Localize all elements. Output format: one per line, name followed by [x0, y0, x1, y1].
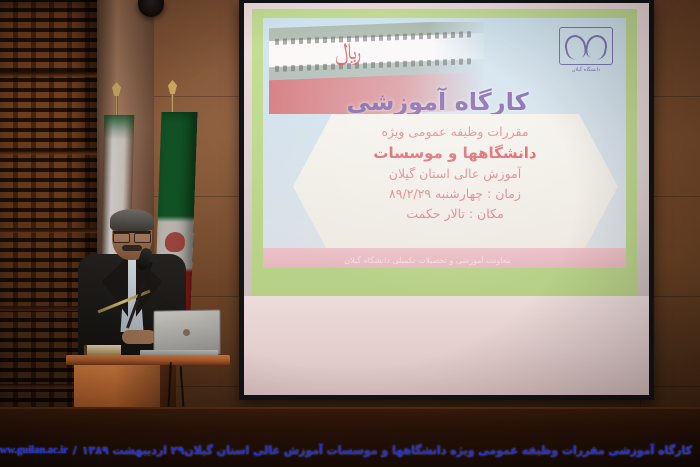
eyeglasses-icon	[113, 231, 151, 241]
slide-body-line: مکان : تالار حکمت	[309, 204, 601, 224]
presenter-laptop	[153, 309, 220, 354]
slide-body-lines: مقررات وظیفه عمومی ویژه دانشگاهها و موسس…	[309, 122, 601, 224]
presentation-slide: ﷼ دانشگاه گیلان کارگاه آموزشی مقررات وظی…	[252, 9, 637, 296]
projection-screen: ﷼ دانشگاه گیلان کارگاه آموزشی مقررات وظی…	[239, 0, 654, 400]
caption-date: ۲۹ اردیبهشت ۱۳۸۹	[82, 444, 184, 457]
slide-body-line: مقررات وظیفه عمومی ویژه	[309, 122, 601, 142]
slide-body-line: آموزش عالی استان گیلان	[309, 164, 601, 184]
caption-title: کارگاه آموزشی مقررات وظیفه عمومی ویژه دا…	[184, 444, 692, 457]
screen-surface: ﷼ دانشگاه گیلان کارگاه آموزشی مقررات وظی…	[244, 3, 649, 395]
slide-inner-panel: ﷼ دانشگاه گیلان کارگاه آموزشی مقررات وظی…	[263, 18, 626, 268]
photograph: ﷼ دانشگاه گیلان کارگاه آموزشی مقررات وظی…	[0, 0, 700, 467]
iran-emblem-icon: ﷼	[331, 39, 366, 62]
presenter-hands	[122, 330, 156, 344]
slide-body-line: زمان : چهارشنبه ۸۹/۲/۲۹	[309, 184, 601, 204]
caption-bar: کارگاه آموزشی مقررات وظیفه عمومی ویژه دا…	[0, 433, 700, 467]
slide-title: کارگاه آموزشی	[263, 88, 612, 116]
caption-website-url[interactable]: www.guilan.ac.ir	[0, 444, 68, 456]
presenter-mustache	[122, 245, 142, 251]
logo-caption: دانشگاه گیلان	[558, 67, 614, 73]
slide-footer-text: معاونت آموزشی و تحصیلات تکمیلی دانشگاه گ…	[252, 256, 603, 265]
slide-body-line: دانشگاهها و موسسات	[309, 142, 601, 164]
university-logo: دانشگاه گیلان	[558, 27, 614, 73]
podium-surface	[66, 355, 230, 365]
caption-separator: /	[73, 444, 77, 457]
presenter-hair	[110, 209, 154, 231]
screen-lower-area	[244, 296, 649, 395]
logo-mark-icon	[559, 27, 613, 65]
caption-meta: ۲۹ اردیبهشت ۱۳۸۹ / www.guilan.ac.ir	[0, 444, 184, 457]
